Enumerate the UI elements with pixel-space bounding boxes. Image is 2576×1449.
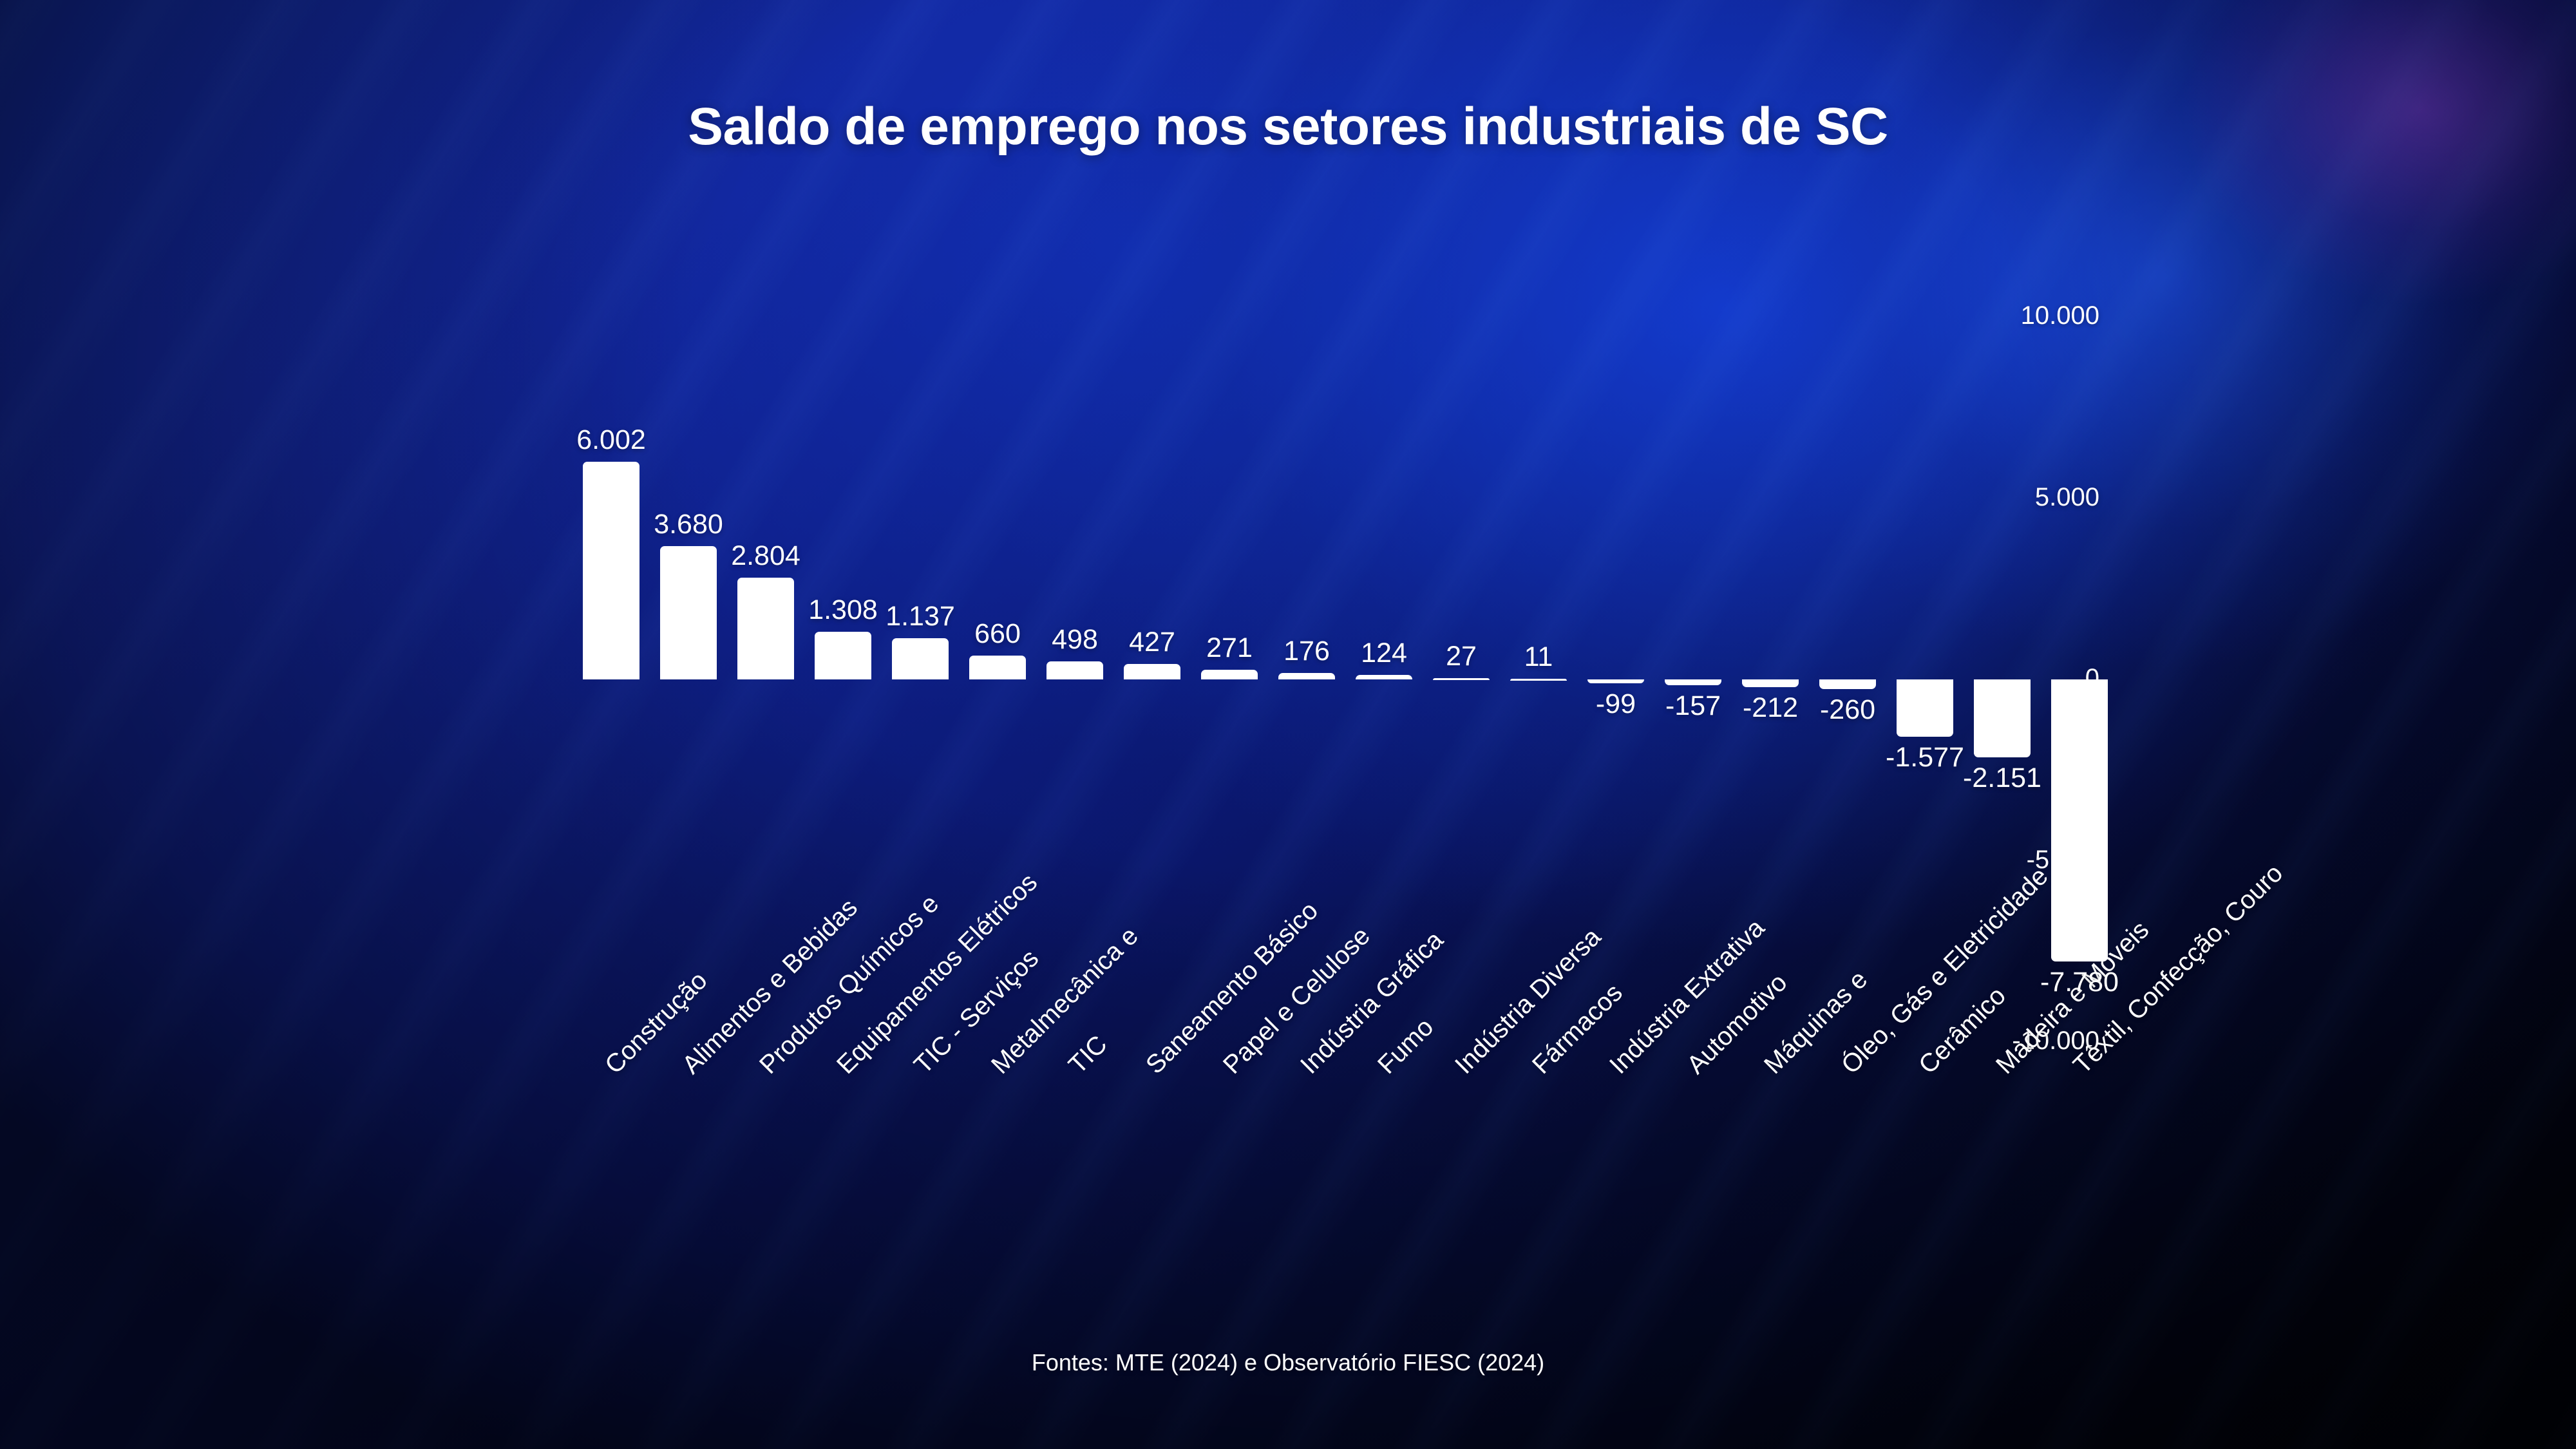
bar-value-label: 6.002 — [576, 424, 646, 456]
bar-13[interactable] — [1587, 679, 1644, 683]
bar-12[interactable] — [1510, 679, 1567, 681]
bar-value-label: 271 — [1206, 632, 1253, 664]
bar-value-label: -157 — [1665, 690, 1721, 722]
bar-value-label: -1.577 — [1886, 742, 1964, 773]
bar-value-label: -2.151 — [1963, 762, 2041, 794]
bar-17[interactable] — [1897, 679, 1953, 737]
bar-7[interactable] — [1124, 664, 1180, 679]
bar-value-label: 2.804 — [731, 540, 800, 572]
bar-value-label: 124 — [1361, 638, 1407, 669]
bar-16[interactable] — [1819, 679, 1876, 689]
bar-11[interactable] — [1433, 678, 1490, 680]
bar-value-label: -212 — [1743, 692, 1798, 724]
y-axis-tick-label: 10.000 — [2021, 301, 2099, 330]
bar-6[interactable] — [1046, 661, 1103, 679]
bar-value-label: 660 — [974, 618, 1021, 650]
bar-value-label: 176 — [1283, 636, 1330, 667]
bar-5[interactable] — [969, 656, 1026, 679]
bar-15[interactable] — [1742, 679, 1799, 687]
bar-value-label: 1.137 — [885, 601, 955, 632]
bar-2[interactable] — [737, 578, 794, 679]
bar-18[interactable] — [1974, 679, 2031, 757]
bar-9[interactable] — [1278, 673, 1335, 679]
bar-10[interactable] — [1356, 675, 1412, 679]
bar-value-label: -99 — [1596, 688, 1636, 720]
bar-14[interactable] — [1665, 679, 1721, 685]
bar-value-label: -7.780 — [2040, 967, 2119, 998]
bar-value-label: 11 — [1524, 641, 1553, 673]
bar-19[interactable] — [2051, 679, 2108, 961]
bar-value-label: 3.680 — [654, 509, 723, 540]
y-axis-tick-label: 5.000 — [2035, 483, 2099, 512]
bar-value-label: 427 — [1129, 627, 1175, 658]
bar-8[interactable] — [1201, 670, 1258, 679]
bar-0[interactable] — [583, 462, 639, 679]
chart-title: Saldo de emprego nos setores industriais… — [0, 97, 2576, 157]
bar-1[interactable] — [660, 546, 717, 679]
bar-3[interactable] — [815, 632, 871, 679]
bar-chart-plot-area: 10.0005.0000-5.000-10.0006.002Construção… — [567, 277, 2138, 766]
bar-value-label: 498 — [1052, 624, 1098, 656]
bar-value-label: -260 — [1820, 694, 1875, 726]
bar-value-label: 1.308 — [808, 594, 878, 626]
chart-source-note: Fontes: MTE (2024) e Observatório FIESC … — [0, 1349, 2576, 1376]
bar-4[interactable] — [892, 638, 949, 679]
bar-value-label: 27 — [1446, 641, 1477, 672]
